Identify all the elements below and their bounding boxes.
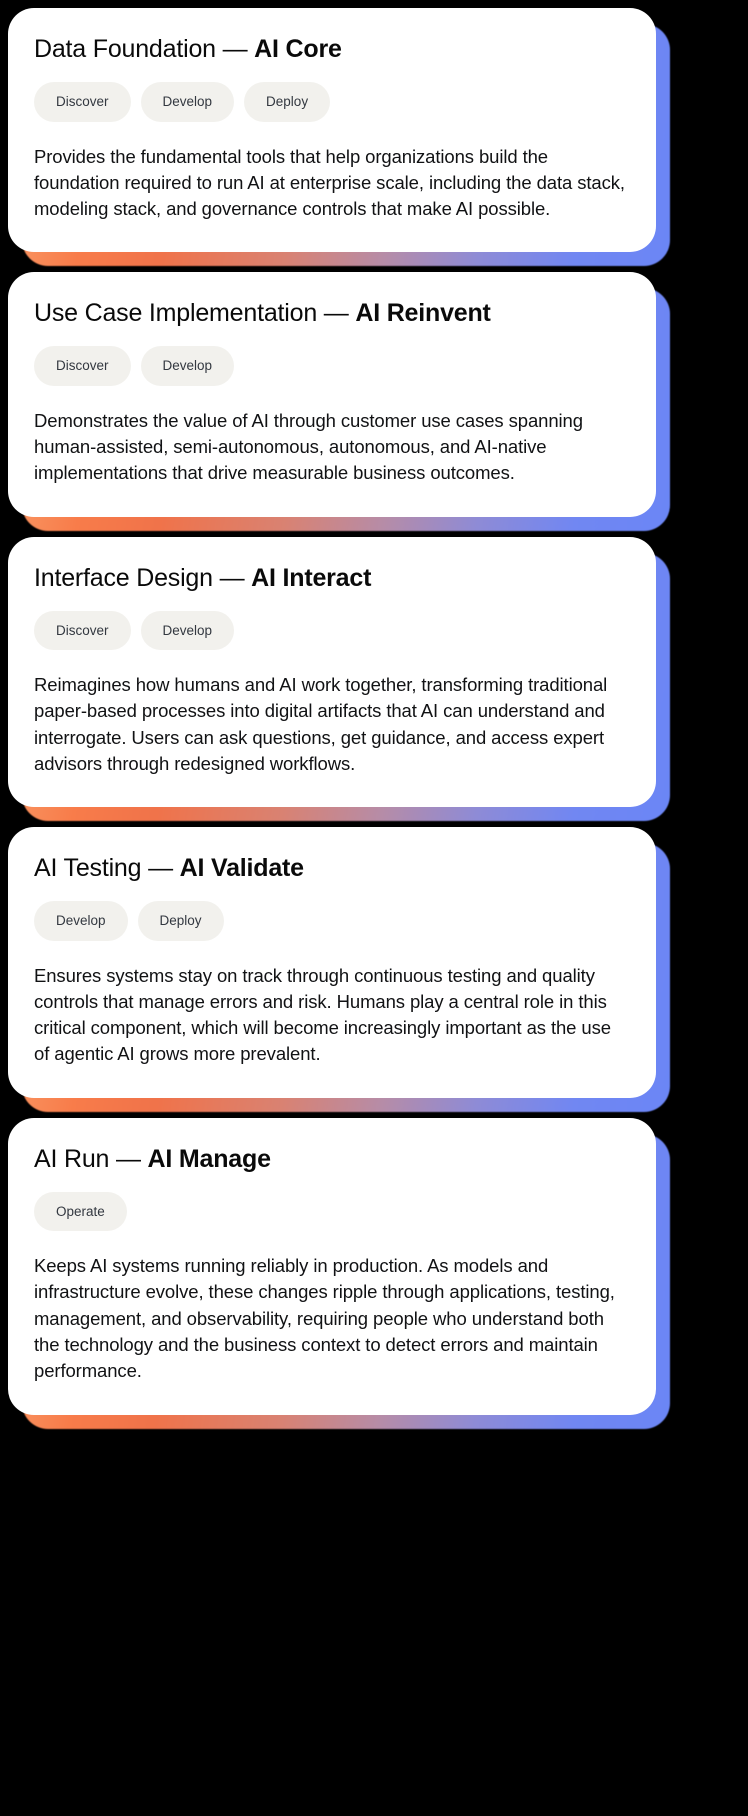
card-panel: Use Case Implementation — AI ReinventDis…	[8, 272, 656, 516]
card-stage-pill-row: DevelopDeploy	[34, 901, 630, 941]
card-title-brand: AI Interact	[251, 564, 371, 592]
card-body-text: Demonstrates the value of AI through cus…	[34, 408, 630, 487]
card-title: Use Case Implementation — AI Reinvent	[34, 298, 630, 328]
stage-pill[interactable]: Discover	[34, 611, 131, 651]
capability-card-stack: Data Foundation — AI CoreDiscoverDevelop…	[0, 0, 748, 1415]
card-title-prefix: Interface Design	[34, 564, 213, 592]
card-title-brand: AI Manage	[148, 1145, 271, 1173]
capability-card: Data Foundation — AI CoreDiscoverDevelop…	[8, 8, 656, 252]
stage-pill[interactable]: Develop	[141, 82, 235, 122]
card-title-dash: —	[220, 564, 245, 592]
card-body-text: Ensures systems stay on track through co…	[34, 963, 630, 1068]
card-stage-pill-row: DiscoverDevelop	[34, 611, 630, 651]
card-title: AI Testing — AI Validate	[34, 853, 630, 883]
card-body-text: Provides the fundamental tools that help…	[34, 144, 630, 223]
capability-card: Interface Design — AI InteractDiscoverDe…	[8, 537, 656, 808]
card-title-dash: —	[116, 1145, 141, 1173]
card-title-brand: AI Reinvent	[355, 299, 490, 327]
card-title-prefix: AI Run	[34, 1145, 109, 1173]
card-stage-pill-row: DiscoverDevelop	[34, 346, 630, 386]
card-title: Data Foundation — AI Core	[34, 34, 630, 64]
card-title-dash: —	[223, 35, 248, 63]
stage-pill[interactable]: Develop	[34, 901, 128, 941]
card-panel: AI Run — AI ManageOperateKeeps AI system…	[8, 1118, 656, 1415]
card-stage-pill-row: DiscoverDevelopDeploy	[34, 82, 630, 122]
card-title: AI Run — AI Manage	[34, 1144, 630, 1174]
card-title-brand: AI Core	[254, 35, 342, 63]
card-title-brand: AI Validate	[180, 854, 304, 882]
card-stage-pill-row: Operate	[34, 1192, 630, 1232]
card-body-text: Reimagines how humans and AI work togeth…	[34, 672, 630, 777]
card-body-text: Keeps AI systems running reliably in pro…	[34, 1253, 630, 1384]
card-panel: AI Testing — AI ValidateDevelopDeployEns…	[8, 827, 656, 1098]
stage-pill[interactable]: Develop	[141, 346, 235, 386]
card-title-dash: —	[148, 854, 173, 882]
stage-pill[interactable]: Develop	[141, 611, 235, 651]
card-title-prefix: AI Testing	[34, 854, 141, 882]
stage-pill[interactable]: Deploy	[138, 901, 224, 941]
card-title-dash: —	[324, 299, 349, 327]
stage-pill[interactable]: Deploy	[244, 82, 330, 122]
card-panel: Data Foundation — AI CoreDiscoverDevelop…	[8, 8, 656, 252]
capability-card: Use Case Implementation — AI ReinventDis…	[8, 272, 656, 516]
stage-pill[interactable]: Operate	[34, 1192, 127, 1232]
stage-pill[interactable]: Discover	[34, 346, 131, 386]
card-title: Interface Design — AI Interact	[34, 563, 630, 593]
card-panel: Interface Design — AI InteractDiscoverDe…	[8, 537, 656, 808]
capability-card: AI Run — AI ManageOperateKeeps AI system…	[8, 1118, 656, 1415]
card-title-prefix: Data Foundation	[34, 35, 216, 63]
stage-pill[interactable]: Discover	[34, 82, 131, 122]
capability-card: AI Testing — AI ValidateDevelopDeployEns…	[8, 827, 656, 1098]
card-title-prefix: Use Case Implementation	[34, 299, 317, 327]
